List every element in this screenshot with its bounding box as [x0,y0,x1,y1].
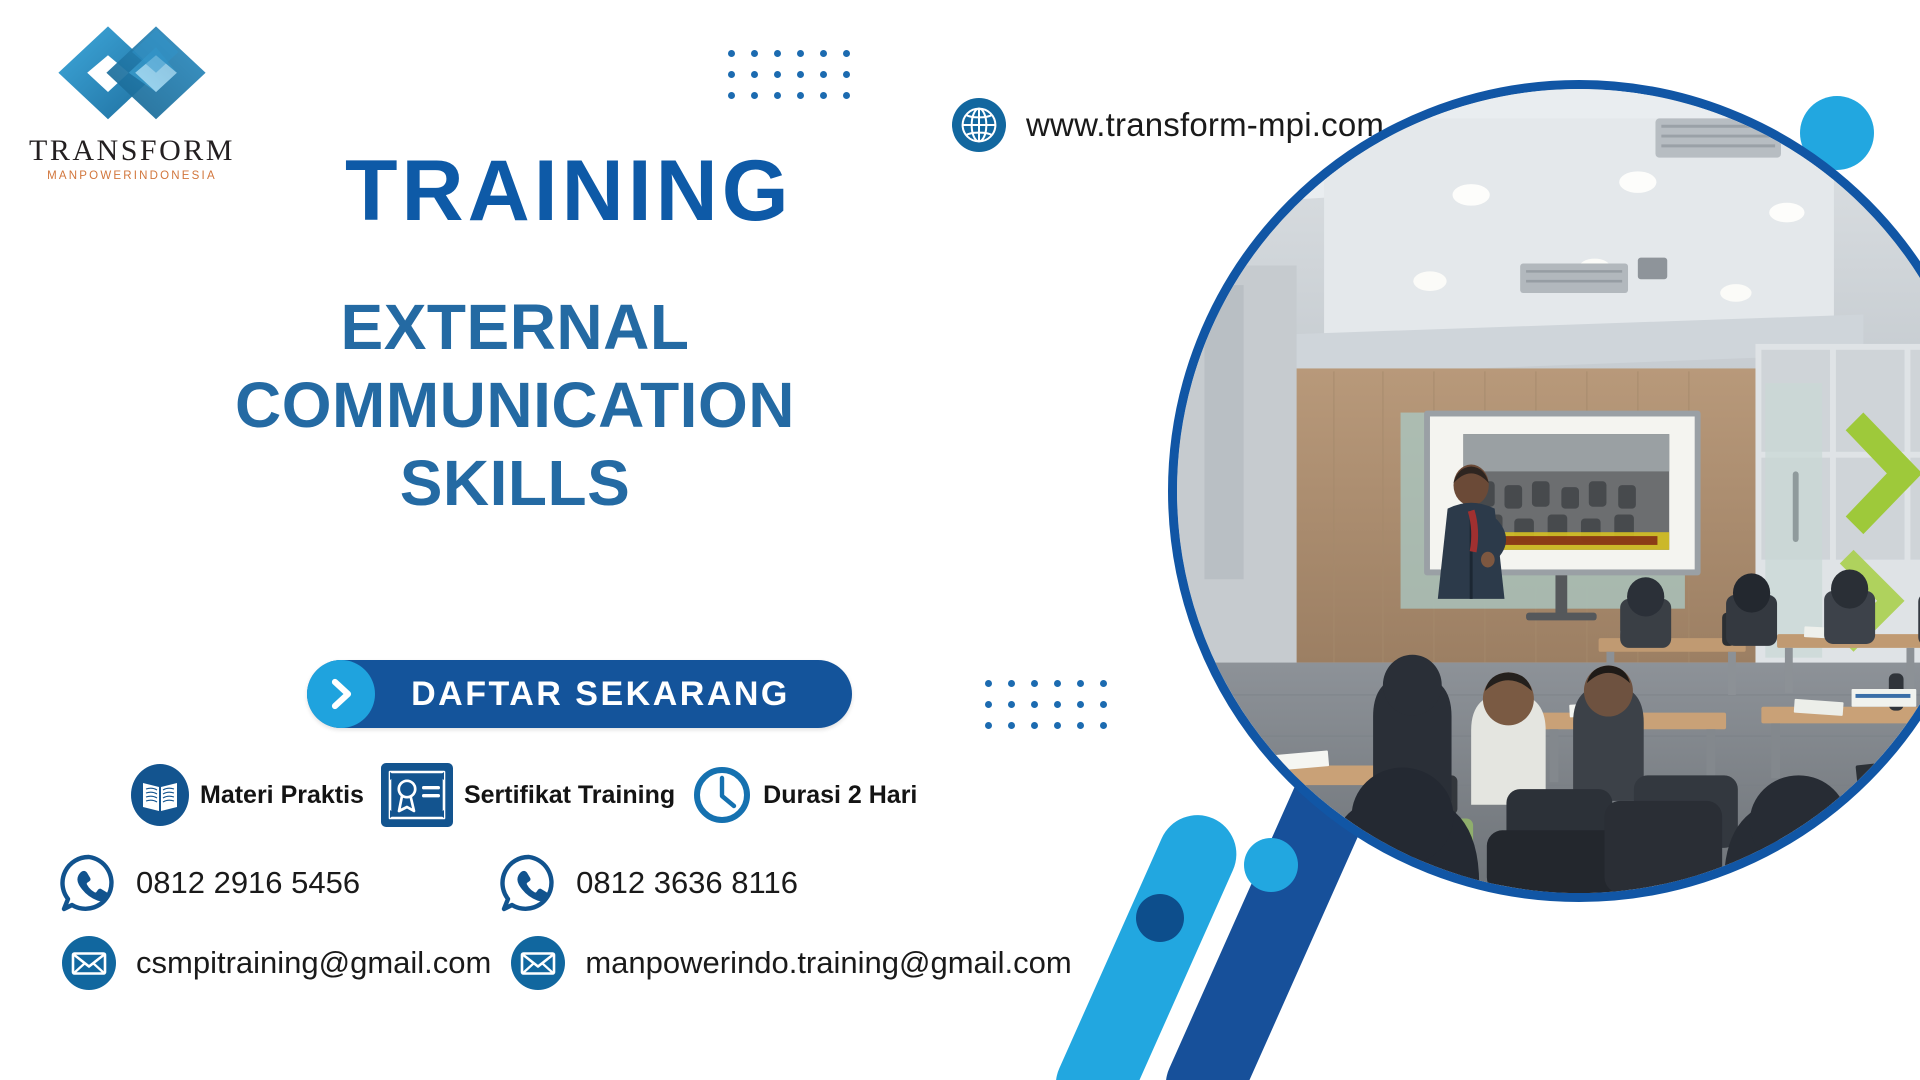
brand-tagline: MANPOWERINDONESIA [22,170,242,182]
contact-phone-1[interactable]: 0812 2916 5456 [58,852,360,914]
contact-phone-2[interactable]: 0812 3636 8116 [498,852,798,914]
register-now-label: DAFTAR SEKARANG [375,675,852,714]
feature-item-sertifikat-training: Sertifikat Training [380,762,675,828]
title-line-2: COMMUNICATION [120,366,910,444]
brand-logo-block: TRANSFORM MANPOWERINDONESIA [22,20,242,182]
clock-icon [691,764,753,826]
website-row[interactable]: www.transform-mpi.com [952,98,1384,152]
training-photo [1177,89,1920,893]
whatsapp-phone-icon [58,852,120,914]
phone-number-2: 0812 3636 8116 [576,865,798,901]
headline-eyebrow: TRAINING [345,148,793,234]
certificate-icon [380,762,454,828]
headline-title-block: EXTERNAL COMMUNICATION SKILLS [120,288,910,522]
feature-strip: Materi Praktis Sertifikat Training Duras… [130,762,917,828]
feature-label-1: Sertifikat Training [464,781,675,810]
flyer-canvas: TRANSFORM MANPOWERINDONESIA www.transfor… [0,0,1920,1080]
title-line-1: EXTERNAL [120,288,910,366]
feature-label-0: Materi Praktis [200,781,364,810]
feature-label-2: Durasi 2 Hari [763,781,917,810]
classroom-photo-illustration [1177,89,1920,893]
cyan-circle-decoration-bottom [1244,838,1298,892]
website-url-text: www.transform-mpi.com [1026,106,1384,144]
contact-email-2[interactable]: manpowerindo.training@gmail.com [507,932,1071,994]
feature-item-durasi: Durasi 2 Hari [691,764,917,826]
cta-arrow-circle [307,660,375,728]
globe-icon [952,98,1006,152]
email-row: csmpitraining@gmail.com manpowerindo.tra… [58,932,1138,994]
chevron-right-icon [324,677,358,711]
training-photo-frame [1168,80,1920,902]
contact-area: 0812 2916 5456 0812 3636 8116 csmpitrain… [58,852,1138,994]
contact-email-1[interactable]: csmpitraining@gmail.com [58,932,491,994]
whatsapp-phone-icon [498,852,560,914]
envelope-icon [507,932,569,994]
open-book-icon [130,763,190,827]
dot-grid-decoration-middle [985,680,1123,743]
feature-item-materi-praktis: Materi Praktis [130,763,364,827]
register-now-button[interactable]: DAFTAR SEKARANG [307,660,852,728]
transform-diamond-logo-icon [52,20,212,132]
brand-wordmark: TRANSFORM [22,136,242,166]
phone-number-1: 0812 2916 5456 [136,865,360,901]
navy-circle-decoration-bottom [1136,894,1184,942]
title-line-3: SKILLS [120,444,910,522]
email-address-2: manpowerindo.training@gmail.com [585,945,1071,981]
phone-row: 0812 2916 5456 0812 3636 8116 [58,852,1138,914]
dot-grid-decoration-top [728,50,866,113]
email-address-1: csmpitraining@gmail.com [136,945,491,981]
envelope-icon [58,932,120,994]
